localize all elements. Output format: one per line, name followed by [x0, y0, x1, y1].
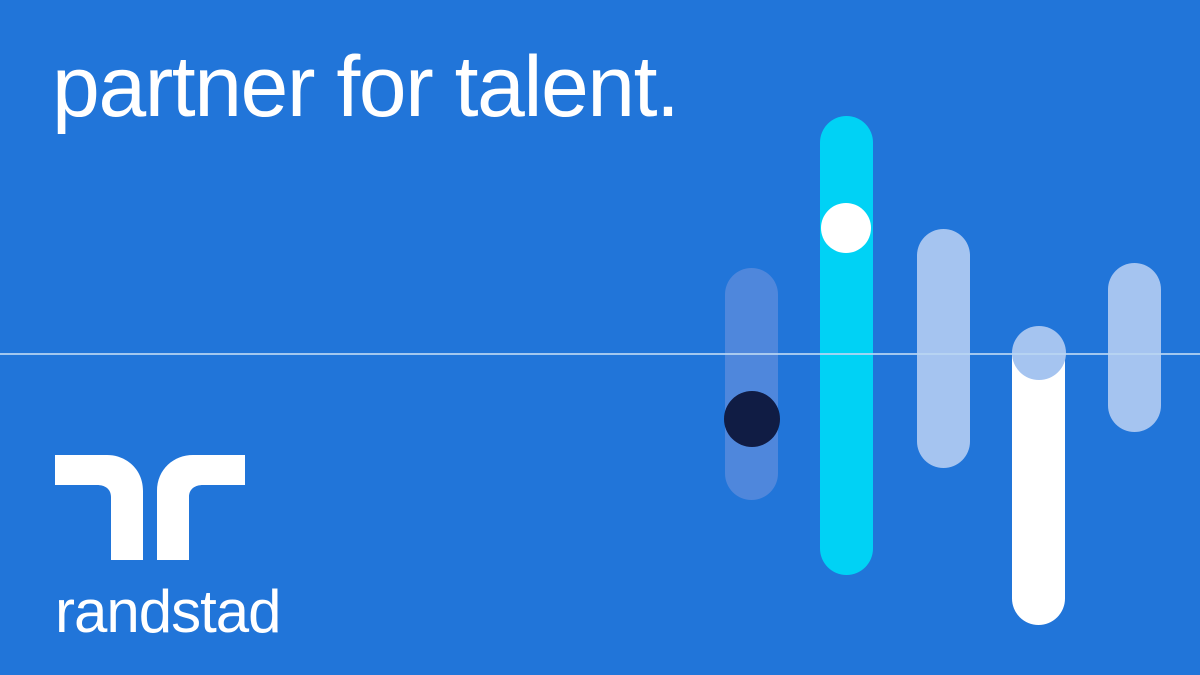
page-title: partner for talent.	[52, 44, 678, 130]
randstad-logo-mark-icon	[55, 455, 245, 560]
bar-1	[725, 268, 778, 500]
randstad-brand-banner: partner for talent. randstad	[0, 0, 1200, 675]
marker-white	[821, 203, 871, 253]
bar-5	[1108, 263, 1161, 432]
marker-navy	[724, 391, 780, 447]
brand-wordmark: randstad	[55, 582, 315, 642]
bar-2	[820, 116, 873, 575]
marker-lightblue	[1012, 326, 1066, 380]
brand-logo: randstad	[55, 455, 315, 642]
bar-3	[917, 229, 970, 468]
